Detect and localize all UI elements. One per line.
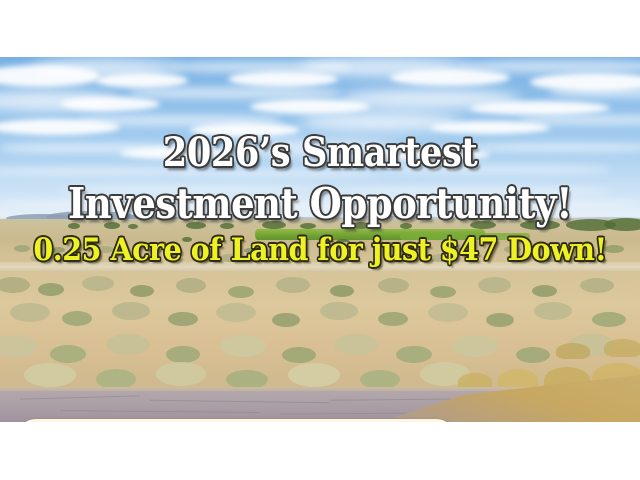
cloud-layer	[0, 57, 640, 219]
green-field-strip-secondary	[400, 233, 530, 240]
tagline-banner: Park Your RV. Unplug. Breathe!	[16, 419, 456, 422]
marketing-image-canvas: 2026’s Smartest Investment Opportunity! …	[0, 0, 640, 480]
landscape-photo: 2026’s Smartest Investment Opportunity! …	[0, 57, 640, 422]
